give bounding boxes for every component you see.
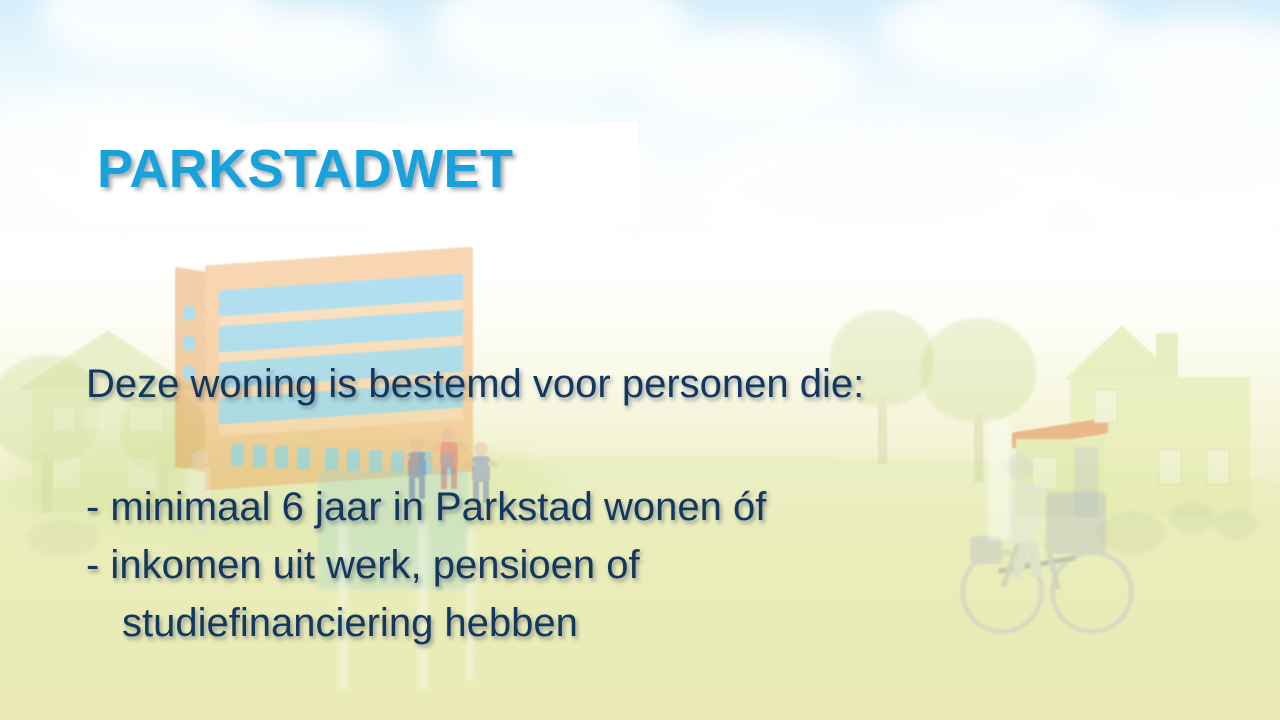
- bullet-item-1: - minimaal 6 jaar in Parkstad wonen óf: [86, 478, 1166, 536]
- lead-text: Deze woning is bestemd voor personen die…: [86, 360, 1166, 408]
- bullet-item-2-continuation: studiefinanciering hebben: [86, 594, 1166, 652]
- bullet-list: - minimaal 6 jaar in Parkstad wonen óf -…: [86, 478, 1166, 652]
- slide-body: Deze woning is bestemd voor personen die…: [86, 360, 1166, 652]
- page-title: PARKSTADWET: [97, 132, 513, 206]
- presentation-slide: PARKSTADWET Deze woning is bestemd voor …: [0, 0, 1280, 720]
- bullet-item-2: - inkomen uit werk, pensioen of: [86, 536, 1166, 594]
